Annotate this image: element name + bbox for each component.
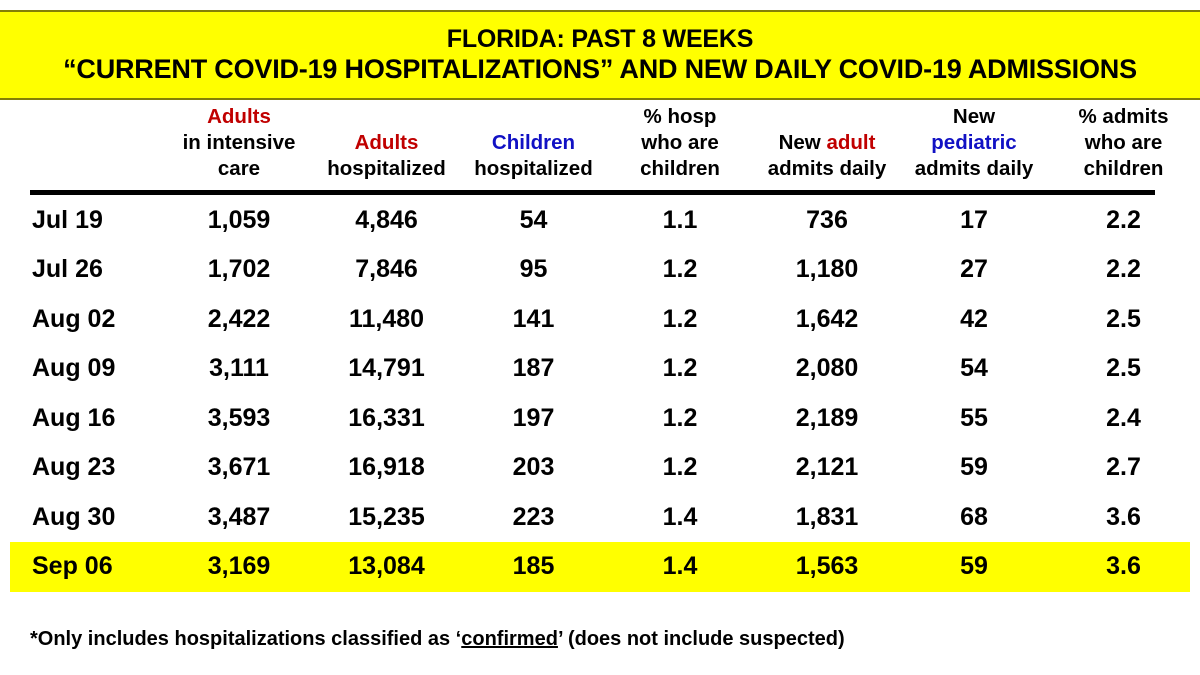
cell-adults-hospitalized: 14,791 — [313, 344, 460, 394]
header-line-hospitalized: hospitalized — [462, 156, 605, 182]
cell-pct-admits-children: 2.2 — [1047, 196, 1200, 246]
cell-adults-icu: 3,487 — [165, 493, 313, 543]
table-row: Aug 163,59316,3311971.22,189552.4 — [0, 394, 1200, 444]
header-word-new: New — [779, 131, 821, 154]
cell-adults-hospitalized: 11,480 — [313, 295, 460, 345]
table-row: Aug 233,67116,9182031.22,121592.7 — [0, 443, 1200, 493]
header-line-adults: Adults — [167, 104, 311, 130]
header-line-admits-daily: admits daily — [755, 156, 899, 182]
header-line-adults: Adults — [315, 130, 458, 156]
footnote-after: ’ (does not include suspected) — [558, 628, 845, 650]
title-line-1: FLORIDA: PAST 8 WEEKS — [447, 25, 753, 54]
cell-new-pediatric-admits: 27 — [901, 245, 1047, 295]
cell-new-adult-admits: 1,563 — [753, 542, 901, 592]
cell-pct-hosp-children: 1.2 — [607, 394, 753, 444]
hospitalizations-table: Adults in intensive care Adults hospital… — [0, 104, 1200, 592]
cell-new-pediatric-admits: 59 — [901, 443, 1047, 493]
cell-adults-hospitalized: 4,846 — [313, 196, 460, 246]
cell-new-adult-admits: 2,121 — [753, 443, 901, 493]
cell-date: Jul 26 — [0, 245, 165, 295]
cell-date: Sep 06 — [0, 542, 165, 592]
cell-children-hospitalized: 54 — [460, 196, 607, 246]
cell-date: Aug 30 — [0, 493, 165, 543]
footnote-confirmed: confirmed — [461, 628, 558, 650]
cell-date: Aug 23 — [0, 443, 165, 493]
cell-children-hospitalized: 185 — [460, 542, 607, 592]
column-header-new-adult-admits: New adult admits daily — [753, 104, 901, 189]
header-line-hospitalized: hospitalized — [315, 156, 458, 182]
column-header-new-pediatric-admits: New pediatric admits daily — [901, 104, 1047, 189]
cell-children-hospitalized: 203 — [460, 443, 607, 493]
cell-adults-icu: 3,593 — [165, 394, 313, 444]
table-row: Aug 093,11114,7911871.22,080542.5 — [0, 344, 1200, 394]
header-line-children: children — [609, 156, 751, 182]
cell-pct-admits-children: 2.5 — [1047, 344, 1200, 394]
header-line-who-are: who are — [609, 130, 751, 156]
table-row: Sep 063,16913,0841851.41,563593.6 — [0, 542, 1200, 592]
cell-children-hospitalized: 187 — [460, 344, 607, 394]
cell-adults-icu: 2,422 — [165, 295, 313, 345]
cell-pct-admits-children: 2.5 — [1047, 295, 1200, 345]
cell-adults-hospitalized: 16,331 — [313, 394, 460, 444]
column-header-adults-icu: Adults in intensive care — [165, 104, 313, 189]
cell-adults-icu: 1,059 — [165, 196, 313, 246]
cell-adults-hospitalized: 16,918 — [313, 443, 460, 493]
header-line-in-intensive: in intensive — [167, 130, 311, 156]
cell-pct-hosp-children: 1.2 — [607, 344, 753, 394]
cell-pct-hosp-children: 1.2 — [607, 295, 753, 345]
table-header-row: Adults in intensive care Adults hospital… — [0, 104, 1200, 189]
header-line-children: Children — [462, 130, 605, 156]
cell-date: Aug 09 — [0, 344, 165, 394]
cell-pct-hosp-children: 1.2 — [607, 443, 753, 493]
cell-pct-hosp-children: 1.1 — [607, 196, 753, 246]
cell-adults-icu: 1,702 — [165, 245, 313, 295]
column-header-children-hospitalized: Children hospitalized — [460, 104, 607, 189]
slide-canvas: FLORIDA: PAST 8 WEEKS “CURRENT COVID-19 … — [0, 0, 1200, 675]
cell-new-pediatric-admits: 42 — [901, 295, 1047, 345]
title-line-2: “CURRENT COVID-19 HOSPITALIZATIONS” AND … — [63, 54, 1137, 85]
cell-adults-hospitalized: 13,084 — [313, 542, 460, 592]
cell-date: Jul 19 — [0, 196, 165, 246]
cell-pct-admits-children: 3.6 — [1047, 493, 1200, 543]
header-rule-row — [0, 189, 1200, 196]
cell-new-pediatric-admits: 68 — [901, 493, 1047, 543]
footnote: *Only includes hospitalizations classifi… — [30, 628, 845, 651]
cell-new-adult-admits: 1,642 — [753, 295, 901, 345]
header-line-new: New — [903, 104, 1045, 130]
header-line-new-adult: New adult — [755, 130, 899, 156]
cell-adults-hospitalized: 15,235 — [313, 493, 460, 543]
cell-pct-hosp-children: 1.4 — [607, 542, 753, 592]
table-row: Jul 191,0594,846541.1736172.2 — [0, 196, 1200, 246]
cell-children-hospitalized: 223 — [460, 493, 607, 543]
cell-new-adult-admits: 1,831 — [753, 493, 901, 543]
cell-adults-icu: 3,111 — [165, 344, 313, 394]
column-header-pct-hosp-children: % hosp who are children — [607, 104, 753, 189]
table-row: Aug 303,48715,2352231.41,831683.6 — [0, 493, 1200, 543]
header-line-pct-hosp: % hosp — [609, 104, 751, 130]
cell-children-hospitalized: 95 — [460, 245, 607, 295]
header-line-care: care — [167, 156, 311, 182]
table-row: Jul 261,7027,846951.21,180272.2 — [0, 245, 1200, 295]
header-line-children: children — [1049, 156, 1198, 182]
column-header-pct-admits-children: % admits who are children — [1047, 104, 1200, 189]
cell-adults-hospitalized: 7,846 — [313, 245, 460, 295]
header-line-pediatric: pediatric — [903, 130, 1045, 156]
title-banner: FLORIDA: PAST 8 WEEKS “CURRENT COVID-19 … — [0, 10, 1200, 100]
cell-new-adult-admits: 736 — [753, 196, 901, 246]
table-body: Jul 191,0594,846541.1736172.2Jul 261,702… — [0, 196, 1200, 592]
column-header-adults-hospitalized: Adults hospitalized — [313, 104, 460, 189]
header-line-who-are: who are — [1049, 130, 1198, 156]
cell-pct-admits-children: 2.4 — [1047, 394, 1200, 444]
header-line-pct-admits: % admits — [1049, 104, 1198, 130]
cell-children-hospitalized: 141 — [460, 295, 607, 345]
cell-date: Aug 16 — [0, 394, 165, 444]
cell-new-adult-admits: 2,189 — [753, 394, 901, 444]
cell-new-pediatric-admits: 54 — [901, 344, 1047, 394]
cell-pct-admits-children: 2.7 — [1047, 443, 1200, 493]
cell-children-hospitalized: 197 — [460, 394, 607, 444]
cell-pct-admits-children: 2.2 — [1047, 245, 1200, 295]
cell-adults-icu: 3,169 — [165, 542, 313, 592]
column-header-date — [0, 104, 165, 189]
cell-new-pediatric-admits: 55 — [901, 394, 1047, 444]
cell-new-adult-admits: 2,080 — [753, 344, 901, 394]
cell-new-pediatric-admits: 59 — [901, 542, 1047, 592]
table-header: Adults in intensive care Adults hospital… — [0, 104, 1200, 196]
header-divider-rule — [30, 190, 1155, 195]
header-line-admits-daily: admits daily — [903, 156, 1045, 182]
cell-date: Aug 02 — [0, 295, 165, 345]
table-row: Aug 022,42211,4801411.21,642422.5 — [0, 295, 1200, 345]
footnote-before: *Only includes hospitalizations classifi… — [30, 628, 461, 650]
cell-pct-hosp-children: 1.4 — [607, 493, 753, 543]
header-rule-cell — [0, 189, 1200, 196]
cell-pct-hosp-children: 1.2 — [607, 245, 753, 295]
cell-new-pediatric-admits: 17 — [901, 196, 1047, 246]
header-word-adult: adult — [826, 131, 875, 154]
cell-pct-admits-children: 3.6 — [1047, 542, 1200, 592]
cell-new-adult-admits: 1,180 — [753, 245, 901, 295]
cell-adults-icu: 3,671 — [165, 443, 313, 493]
